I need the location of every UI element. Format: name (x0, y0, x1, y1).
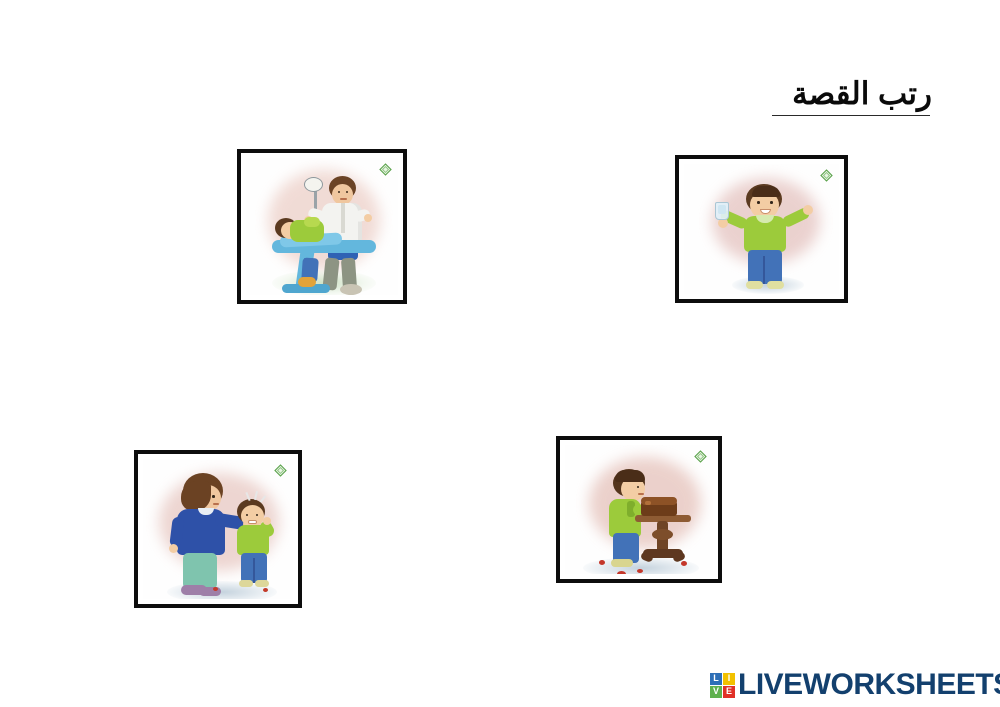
logo-tile-v: V (710, 686, 722, 698)
green-diamond-marker-icon[interactable] (379, 163, 392, 176)
image-card-dentist[interactable] (237, 149, 407, 304)
logo-tile-e: E (723, 686, 735, 698)
illustration-mother-and-boy (143, 459, 293, 599)
image-card-boy-with-glass[interactable] (675, 155, 848, 303)
logo-tile-l: L (710, 673, 722, 685)
image-frame-boy-with-glass (684, 164, 839, 294)
page-title: رتب القصة (792, 76, 932, 112)
image-card-mother-and-boy[interactable] (134, 450, 302, 608)
image-card-boy-with-cake[interactable] (556, 436, 722, 583)
logo-tile-i: I (723, 673, 735, 685)
liveworksheets-logo[interactable]: L I V E LIVEWORKSHEETS (710, 667, 1000, 703)
image-frame-mother-and-boy (143, 459, 293, 599)
illustration-boy-with-cake (565, 445, 713, 574)
illustration-dentist (246, 158, 398, 295)
illustration-boy-with-glass (684, 164, 839, 294)
page-title-underline (772, 115, 930, 116)
worksheet-page: رتب القصة (0, 0, 1000, 707)
logo-tile-grid: L I V E (710, 673, 735, 698)
logo-wordmark: LIVEWORKSHEETS (738, 670, 1000, 700)
green-diamond-marker-icon[interactable] (694, 450, 707, 463)
green-diamond-marker-icon[interactable] (274, 464, 287, 477)
green-diamond-marker-icon[interactable] (820, 169, 833, 182)
image-frame-dentist (246, 158, 398, 295)
image-frame-boy-with-cake (565, 445, 713, 574)
